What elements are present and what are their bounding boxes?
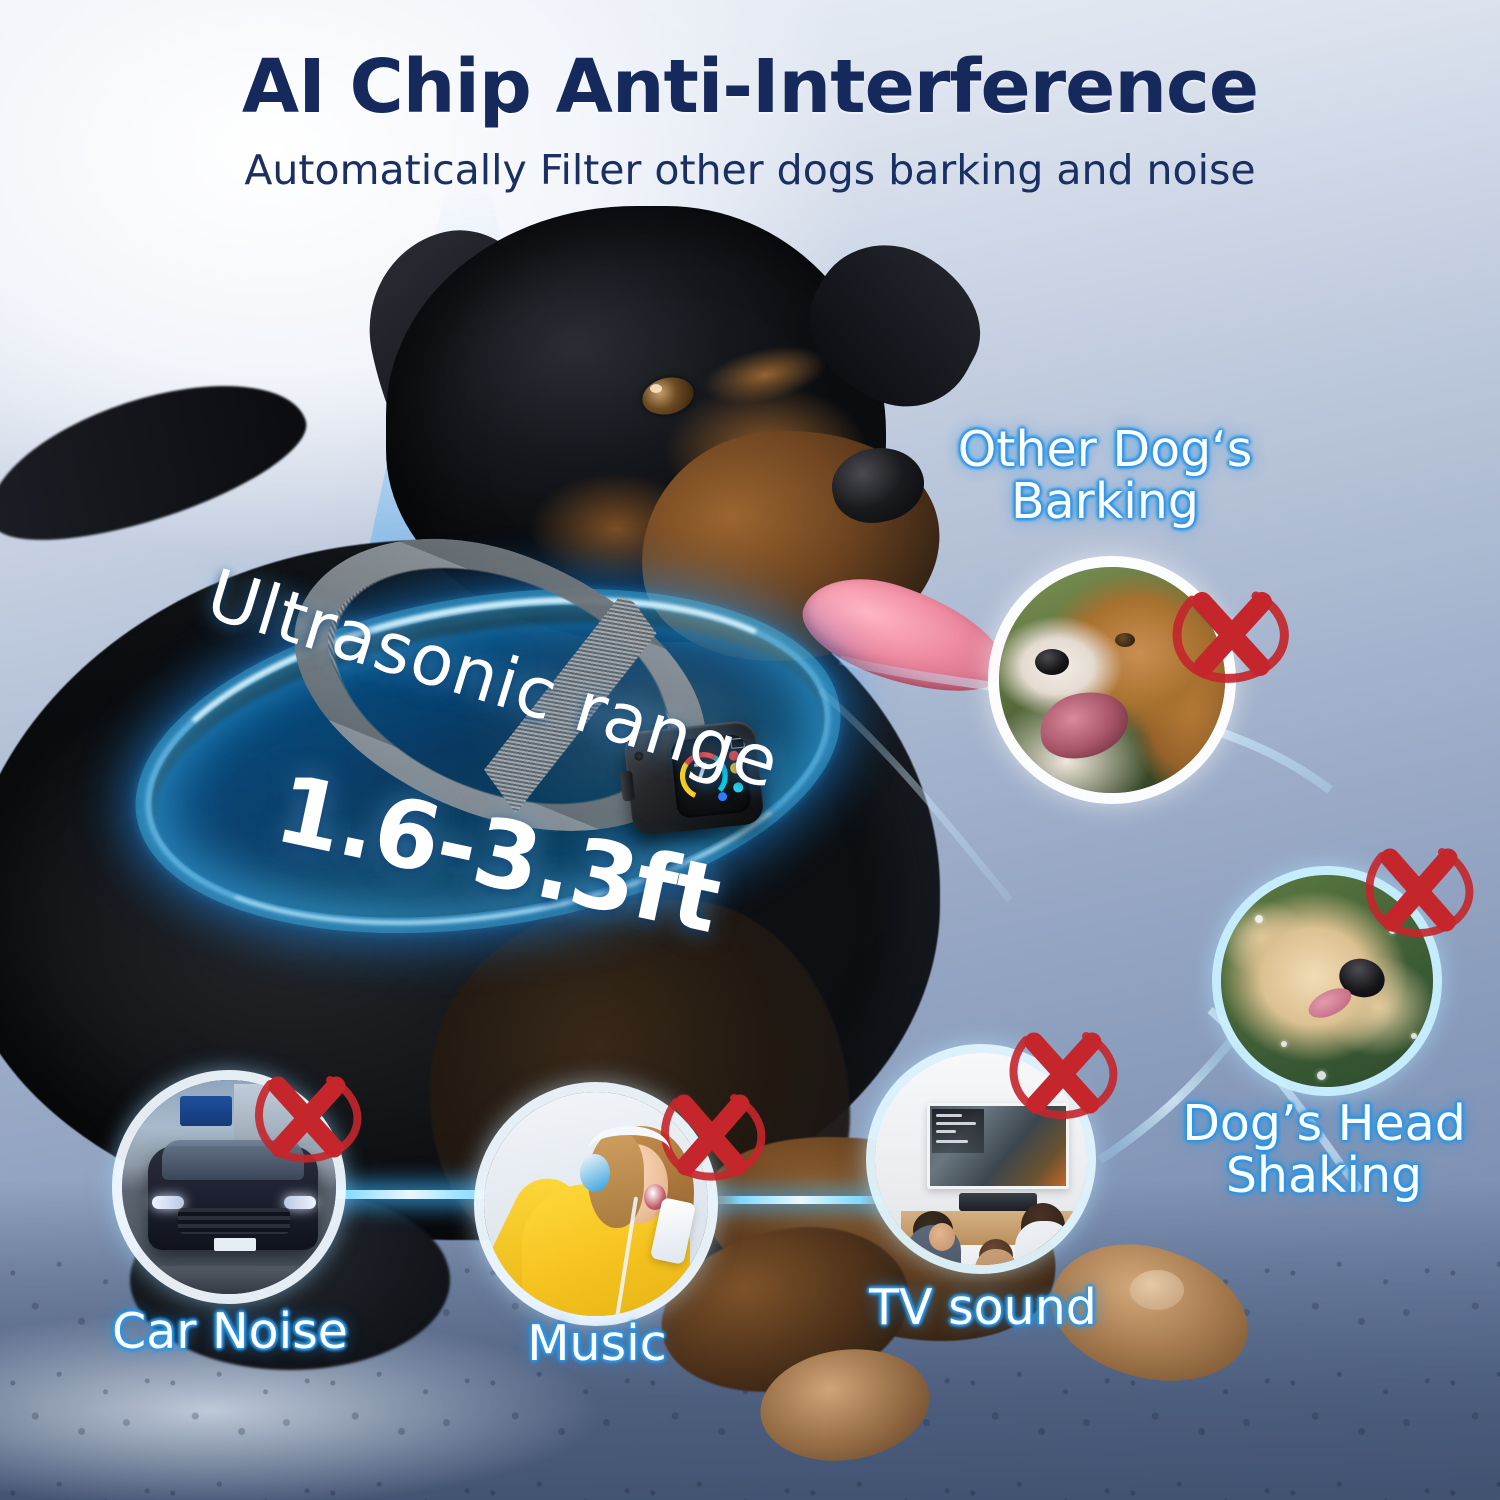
road-surface xyxy=(122,1266,336,1294)
red-x-cross-icon xyxy=(1000,1020,1130,1130)
person-face-left xyxy=(929,1223,955,1251)
label-line-2: Shaking xyxy=(1150,1150,1498,1202)
soundbar xyxy=(959,1193,1037,1211)
label-line-1: TV sound xyxy=(828,1282,1138,1334)
car-headlight-left xyxy=(152,1196,184,1209)
noise-label-dogs-head-shaking: Dog’s Head Shaking xyxy=(1150,1098,1498,1202)
headphones-earcup xyxy=(580,1154,610,1192)
noise-label-music: Music xyxy=(472,1318,722,1370)
product-feature-graphic: AI Chip Anti-Interference Automatically … xyxy=(0,0,1500,1500)
water-droplet xyxy=(1281,1041,1287,1047)
beagle-nose xyxy=(1035,649,1069,675)
car-license-plate xyxy=(214,1238,256,1251)
label-line-2: Barking xyxy=(940,476,1270,528)
tv-ui-line xyxy=(936,1130,956,1133)
label-line-1: Car Noise xyxy=(80,1306,380,1358)
street-sign xyxy=(180,1096,232,1126)
dog-eye-glint xyxy=(650,384,662,393)
noise-label-tv-sound: TV sound xyxy=(828,1282,1138,1334)
car-grille xyxy=(178,1208,290,1234)
red-x-cross-icon xyxy=(246,1066,372,1172)
page-title: AI Chip Anti-Interference xyxy=(0,44,1500,130)
noise-label-other-dogs-barking: Other Dog‘s Barking xyxy=(940,424,1270,528)
label-line-1: Other Dog‘s xyxy=(940,424,1270,476)
noise-label-car-noise: Car Noise xyxy=(80,1306,380,1358)
page-subtitle: Automatically Filter other dogs barking … xyxy=(0,146,1500,194)
water-droplet xyxy=(1255,915,1263,923)
beagle-eye xyxy=(1115,633,1135,647)
tv-ui-line xyxy=(936,1140,968,1143)
tv-ui-line xyxy=(936,1122,976,1125)
tv-screen-overlay xyxy=(932,1109,984,1153)
water-droplet xyxy=(1317,1071,1326,1080)
red-x-cross-icon xyxy=(652,1084,776,1190)
label-line-1: Music xyxy=(472,1318,722,1370)
beagle-open-mouth xyxy=(1032,682,1136,768)
tv-ui-line xyxy=(936,1114,962,1117)
label-line-1: Dog’s Head xyxy=(1150,1098,1498,1150)
dog-paw-pad xyxy=(1130,1270,1184,1310)
red-x-cross-icon xyxy=(1164,578,1304,693)
red-x-cross-icon xyxy=(1356,836,1486,948)
water-droplet xyxy=(1411,1033,1417,1039)
car-headlight-right xyxy=(284,1196,316,1209)
